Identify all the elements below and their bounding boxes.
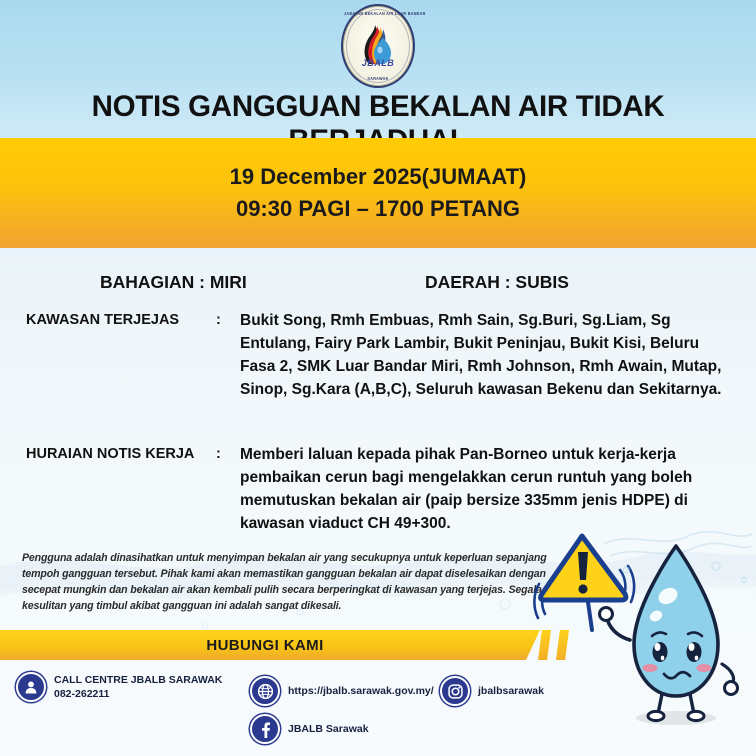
slash-accent-2 — [556, 630, 569, 660]
date-band: 19 December 2025(JUMAAT) 09:30 PAGI – 17… — [0, 138, 756, 248]
daerah-value: DAERAH : SUBIS — [425, 272, 569, 293]
call-centre-phone: 082-262211 — [54, 687, 222, 701]
kawasan-colon: : — [216, 310, 240, 402]
field-huraian-notis-kerja: HURAIAN NOTIS KERJA : Memberi laluan kep… — [26, 444, 738, 536]
contact-items: CALL CENTRE JBALB SARAWAK 082-262211 htt… — [0, 666, 756, 756]
huraian-colon: : — [216, 444, 240, 536]
huraian-label: HURAIAN NOTIS KERJA — [26, 444, 216, 536]
contact-facebook[interactable]: JBALB Sarawak — [250, 714, 369, 744]
contact-call-centre[interactable]: CALL CENTRE JBALB SARAWAK 082-262211 — [16, 672, 222, 702]
header-band: JABATAN BEKALAN AIR LUAR BANDAR SARAWAK … — [0, 0, 756, 138]
notice-date: 19 December 2025(JUMAAT) — [230, 164, 527, 190]
call-centre-name: CALL CENTRE JBALB SARAWAK — [54, 674, 222, 686]
logo-wordmark: JBALB — [341, 58, 415, 68]
slash-accent-1 — [538, 630, 551, 660]
notice-poster: JABATAN BEKALAN AIR LUAR BANDAR SARAWAK … — [0, 0, 756, 756]
field-kawasan-terjejas: KAWASAN TERJEJAS : Bukit Song, Rmh Embua… — [26, 310, 738, 402]
notice-time: 09:30 PAGI – 1700 PETANG — [236, 196, 520, 222]
kawasan-label: KAWASAN TERJEJAS — [26, 310, 216, 402]
notice-body: BAHAGIAN : MIRI DAERAH : SUBIS KAWASAN T… — [0, 248, 756, 756]
logo-arc-bottom-text: SARAWAK — [344, 76, 412, 81]
contact-bar: HUBUNGI KAMI — [0, 630, 540, 660]
facebook-handle: JBALB Sarawak — [288, 722, 369, 736]
contact-website[interactable]: https://jbalb.sarawak.gov.my/ — [250, 676, 434, 706]
disclaimer-text: Pengguna adalah dinasihatkan untuk menyi… — [22, 550, 562, 614]
bahagian-value: BAHAGIAN : MIRI — [100, 272, 247, 293]
instagram-handle: jbalbsarawak — [478, 684, 544, 698]
website-url: https://jbalb.sarawak.gov.my/ — [288, 684, 434, 698]
kawasan-value: Bukit Song, Rmh Embuas, Rmh Sain, Sg.Bur… — [240, 310, 725, 402]
contact-bar-label: HUBUNGI KAMI — [206, 637, 323, 654]
globe-icon — [250, 676, 280, 706]
user-icon — [16, 672, 46, 702]
facebook-icon — [250, 714, 280, 744]
instagram-icon — [440, 676, 470, 706]
logo-arc-top-text: JABATAN BEKALAN AIR LUAR BANDAR — [344, 11, 412, 16]
huraian-value: Memberi laluan kepada pihak Pan-Borneo u… — [240, 444, 725, 536]
contact-instagram[interactable]: jbalbsarawak — [440, 676, 544, 706]
jbalb-logo: JABATAN BEKALAN AIR LUAR BANDAR SARAWAK … — [341, 4, 415, 88]
